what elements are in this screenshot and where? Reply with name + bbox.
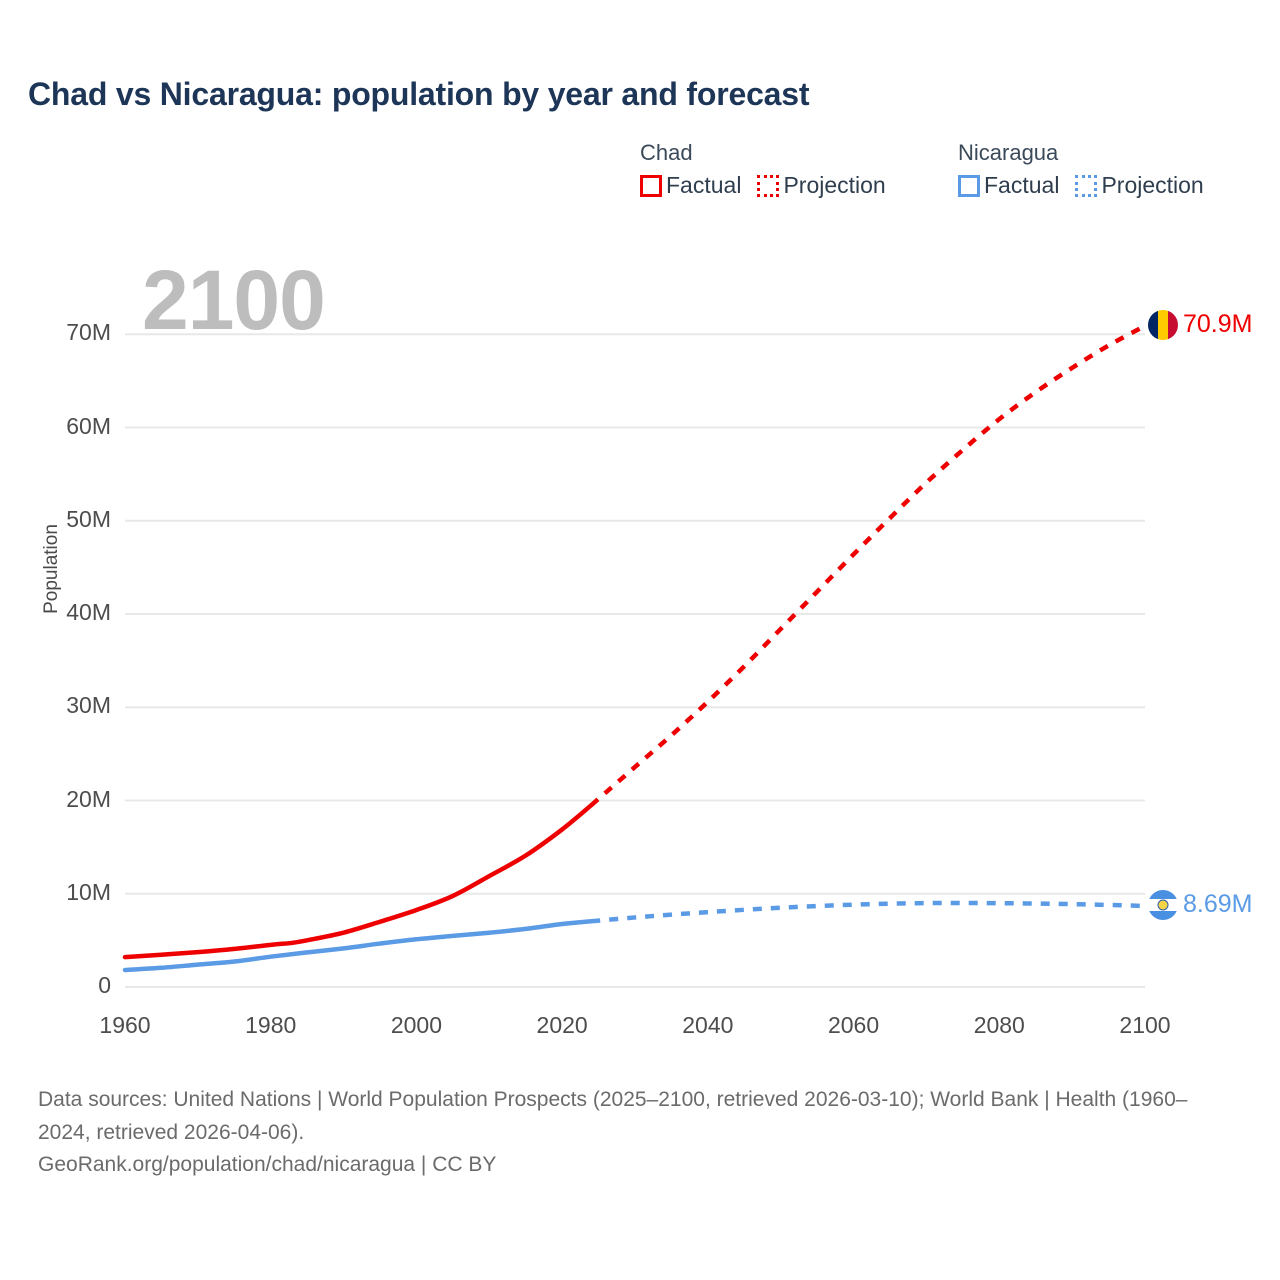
watermark-year: 2100 [142, 258, 325, 342]
end-value-nicaragua: 8.69M [1183, 890, 1252, 919]
x-tick-label: 2080 [939, 1012, 1059, 1039]
y-tick-label: 60M [21, 413, 111, 440]
legend-item-chad-factual[interactable]: Factual [640, 172, 741, 199]
chad-flag-icon [1148, 310, 1178, 340]
series-line-factual-chad [125, 805, 591, 957]
legend-group-chad: Chad Factual Projection [640, 140, 902, 199]
legend-group-title-chad: Chad [640, 140, 902, 166]
y-tick-label: 0 [21, 972, 111, 999]
legend-swatch-dotted-icon [1075, 175, 1097, 197]
x-tick-label: 2060 [794, 1012, 914, 1039]
footer-data-sources: Data sources: United Nations | World Pop… [38, 1084, 1223, 1149]
legend-item-nicaragua-factual[interactable]: Factual [958, 172, 1059, 199]
legend-item-chad-projection[interactable]: Projection [757, 172, 885, 199]
end-label-nicaragua: 8.69M [1148, 890, 1252, 920]
legend-swatch-solid-icon [958, 175, 980, 197]
legend-label-chad-projection: Projection [783, 172, 885, 199]
y-tick-label: 50M [21, 506, 111, 533]
chart-page: Chad vs Nicaragua: population by year an… [0, 0, 1280, 1280]
end-value-chad: 70.9M [1183, 310, 1252, 339]
y-tick-label: 20M [21, 786, 111, 813]
x-tick-label: 2000 [356, 1012, 476, 1039]
legend-row-chad: Factual Projection [640, 172, 902, 199]
y-tick-label: 70M [21, 319, 111, 346]
series-line-factual-nicaragua [125, 921, 591, 970]
series-line-projection-nicaragua [591, 903, 1145, 921]
legend-label-nicaragua-factual: Factual [984, 172, 1059, 199]
y-tick-label: 30M [21, 692, 111, 719]
y-tick-label: 40M [21, 599, 111, 626]
x-tick-label: 2020 [502, 1012, 622, 1039]
x-tick-label: 1960 [65, 1012, 185, 1039]
x-tick-label: 2100 [1085, 1012, 1205, 1039]
footer: Data sources: United Nations | World Pop… [38, 1084, 1238, 1182]
y-tick-label: 10M [21, 879, 111, 906]
series-line-projection-chad [591, 326, 1145, 805]
legend-group-nicaragua: Nicaragua Factual Projection [958, 140, 1220, 199]
nicaragua-emblem-icon [1158, 899, 1169, 910]
legend-label-nicaragua-projection: Projection [1101, 172, 1203, 199]
legend-row-nicaragua: Factual Projection [958, 172, 1220, 199]
nicaragua-flag-icon [1148, 890, 1178, 920]
x-tick-label: 1980 [211, 1012, 331, 1039]
end-label-chad: 70.9M [1148, 310, 1252, 340]
footer-attribution[interactable]: GeoRank.org/population/chad/nicaragua | … [38, 1149, 1238, 1182]
x-tick-label: 2040 [648, 1012, 768, 1039]
legend-item-nicaragua-projection[interactable]: Projection [1075, 172, 1203, 199]
chart-legend: Chad Factual Projection Nicaragua Factua… [640, 140, 1260, 220]
legend-label-chad-factual: Factual [666, 172, 741, 199]
legend-swatch-solid-icon [640, 175, 662, 197]
legend-group-title-nicaragua: Nicaragua [958, 140, 1220, 166]
legend-swatch-dotted-icon [757, 175, 779, 197]
page-title: Chad vs Nicaragua: population by year an… [28, 76, 809, 113]
